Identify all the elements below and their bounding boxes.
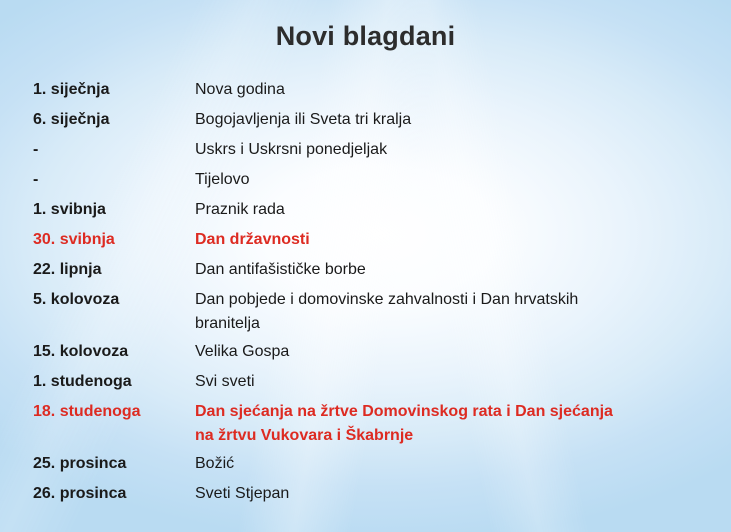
table-row: 26. prosincaSveti Stjepan (33, 482, 713, 512)
holiday-date: - (33, 138, 195, 168)
holiday-name: Dan državnosti (195, 228, 713, 258)
holiday-date: 6. siječnja (33, 108, 195, 138)
holiday-name-line-1: Svi sveti (195, 373, 255, 390)
table-row: 15. kolovozaVelika Gospa (33, 340, 713, 370)
holiday-name: Dan antifašističke borbe (195, 258, 713, 288)
slide-canvas: Novi blagdani 1. siječnjaNova godina6. s… (0, 0, 731, 532)
slide-content: Novi blagdani 1. siječnjaNova godina6. s… (0, 0, 731, 532)
holiday-name: Tijelovo (195, 168, 713, 198)
table-row: -Tijelovo (33, 168, 713, 198)
holiday-name-line-1: Nova godina (195, 81, 285, 98)
holiday-name: Praznik rada (195, 198, 713, 228)
holiday-list-table: 1. siječnjaNova godina6. siječnjaBogojav… (33, 78, 713, 512)
holiday-name-line-1: Dan sjećanja na žrtve Domovinskog rata i… (195, 403, 613, 420)
holiday-date: 25. prosinca (33, 452, 195, 482)
holiday-date: 1. siječnja (33, 78, 195, 108)
holiday-date: 26. prosinca (33, 482, 195, 512)
holiday-name-line-2: na žrtvu Vukovara i Škabrnje (195, 424, 705, 448)
holiday-name: Sveti Stjepan (195, 482, 713, 512)
holiday-name: Uskrs i Uskrsni ponedjeljak (195, 138, 713, 168)
holiday-name: Velika Gospa (195, 340, 713, 370)
holiday-name: Dan sjećanja na žrtve Domovinskog rata i… (195, 400, 713, 452)
holiday-date: 1. studenoga (33, 370, 195, 400)
holiday-date: 5. kolovoza (33, 288, 195, 340)
table-row: -Uskrs i Uskrsni ponedjeljak (33, 138, 713, 168)
table-row: 18. studenogaDan sjećanja na žrtve Domov… (33, 400, 713, 452)
holiday-name-line-1: Dan pobjede i domovinske zahvalnosti i D… (195, 291, 578, 308)
holiday-date: 1. svibnja (33, 198, 195, 228)
holiday-name: Nova godina (195, 78, 713, 108)
table-row: 25. prosincaBožić (33, 452, 713, 482)
table-row: 1. svibnjaPraznik rada (33, 198, 713, 228)
table-row: 1. studenogaSvi sveti (33, 370, 713, 400)
holiday-list-body: 1. siječnjaNova godina6. siječnjaBogojav… (33, 78, 713, 512)
holiday-name-line-2: branitelja (195, 312, 705, 336)
holiday-date: 30. svibnja (33, 228, 195, 258)
holiday-name: Dan pobjede i domovinske zahvalnosti i D… (195, 288, 713, 340)
page-title: Novi blagdani (0, 21, 731, 52)
holiday-date: 22. lipnja (33, 258, 195, 288)
holiday-name: Svi sveti (195, 370, 713, 400)
holiday-name-line-1: Velika Gospa (195, 343, 289, 360)
holiday-name-line-1: Božić (195, 455, 234, 472)
holiday-date: 18. studenoga (33, 400, 195, 452)
holiday-name: Božić (195, 452, 713, 482)
holiday-name-line-1: Sveti Stjepan (195, 485, 289, 502)
holiday-name-line-1: Praznik rada (195, 201, 285, 218)
table-row: 5. kolovozaDan pobjede i domovinske zahv… (33, 288, 713, 340)
holiday-name: Bogojavljenja ili Sveta tri kralja (195, 108, 713, 138)
holiday-name-line-1: Dan antifašističke borbe (195, 261, 366, 278)
table-row: 30. svibnjaDan državnosti (33, 228, 713, 258)
holiday-date: 15. kolovoza (33, 340, 195, 370)
holiday-name-line-1: Uskrs i Uskrsni ponedjeljak (195, 141, 387, 158)
holiday-date: - (33, 168, 195, 198)
holiday-name-line-1: Dan državnosti (195, 231, 310, 248)
holiday-name-line-1: Tijelovo (195, 171, 250, 188)
holiday-name-line-1: Bogojavljenja ili Sveta tri kralja (195, 111, 411, 128)
table-row: 6. siječnjaBogojavljenja ili Sveta tri k… (33, 108, 713, 138)
table-row: 1. siječnjaNova godina (33, 78, 713, 108)
table-row: 22. lipnjaDan antifašističke borbe (33, 258, 713, 288)
